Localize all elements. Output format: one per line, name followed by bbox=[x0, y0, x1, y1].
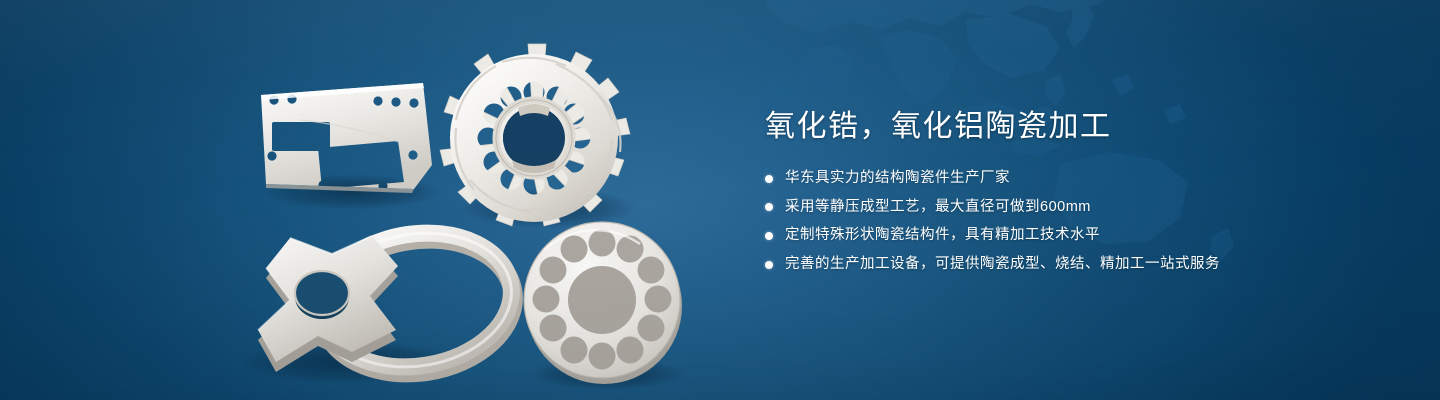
feature-text: 完善的生产加工设备，可提供陶瓷成型、烧结、精加工一站式服务 bbox=[785, 254, 1220, 276]
bullet-dot-icon bbox=[765, 175, 773, 183]
list-item: 采用等静压成型工艺，最大直径可做到600mm bbox=[765, 197, 1385, 219]
list-item: 完善的生产加工设备，可提供陶瓷成型、烧结、精加工一站式服务 bbox=[765, 254, 1385, 276]
bullet-dot-icon bbox=[765, 261, 773, 269]
bullet-dot-icon bbox=[765, 232, 773, 240]
promo-banner: 氧化锆，氧化铝陶瓷加工 华东具实力的结构陶瓷件生产厂家 采用等静压成型工艺，最大… bbox=[0, 0, 1440, 400]
banner-headline: 氧化锆，氧化铝陶瓷加工 bbox=[765, 108, 1385, 146]
bullet-dot-icon bbox=[765, 203, 773, 211]
feature-list: 华东具实力的结构陶瓷件生产厂家 采用等静压成型工艺，最大直径可做到600mm 定… bbox=[765, 168, 1385, 276]
banner-copy: 氧化锆，氧化铝陶瓷加工 华东具实力的结构陶瓷件生产厂家 采用等静压成型工艺，最大… bbox=[765, 108, 1385, 276]
feature-text: 采用等静压成型工艺，最大直径可做到600mm bbox=[785, 197, 1091, 219]
feature-text: 定制特殊形状陶瓷结构件，具有精加工技术水平 bbox=[785, 225, 1100, 247]
feature-text: 华东具实力的结构陶瓷件生产厂家 bbox=[785, 168, 1010, 190]
list-item: 定制特殊形状陶瓷结构件，具有精加工技术水平 bbox=[765, 225, 1385, 247]
list-item: 华东具实力的结构陶瓷件生产厂家 bbox=[765, 168, 1385, 190]
